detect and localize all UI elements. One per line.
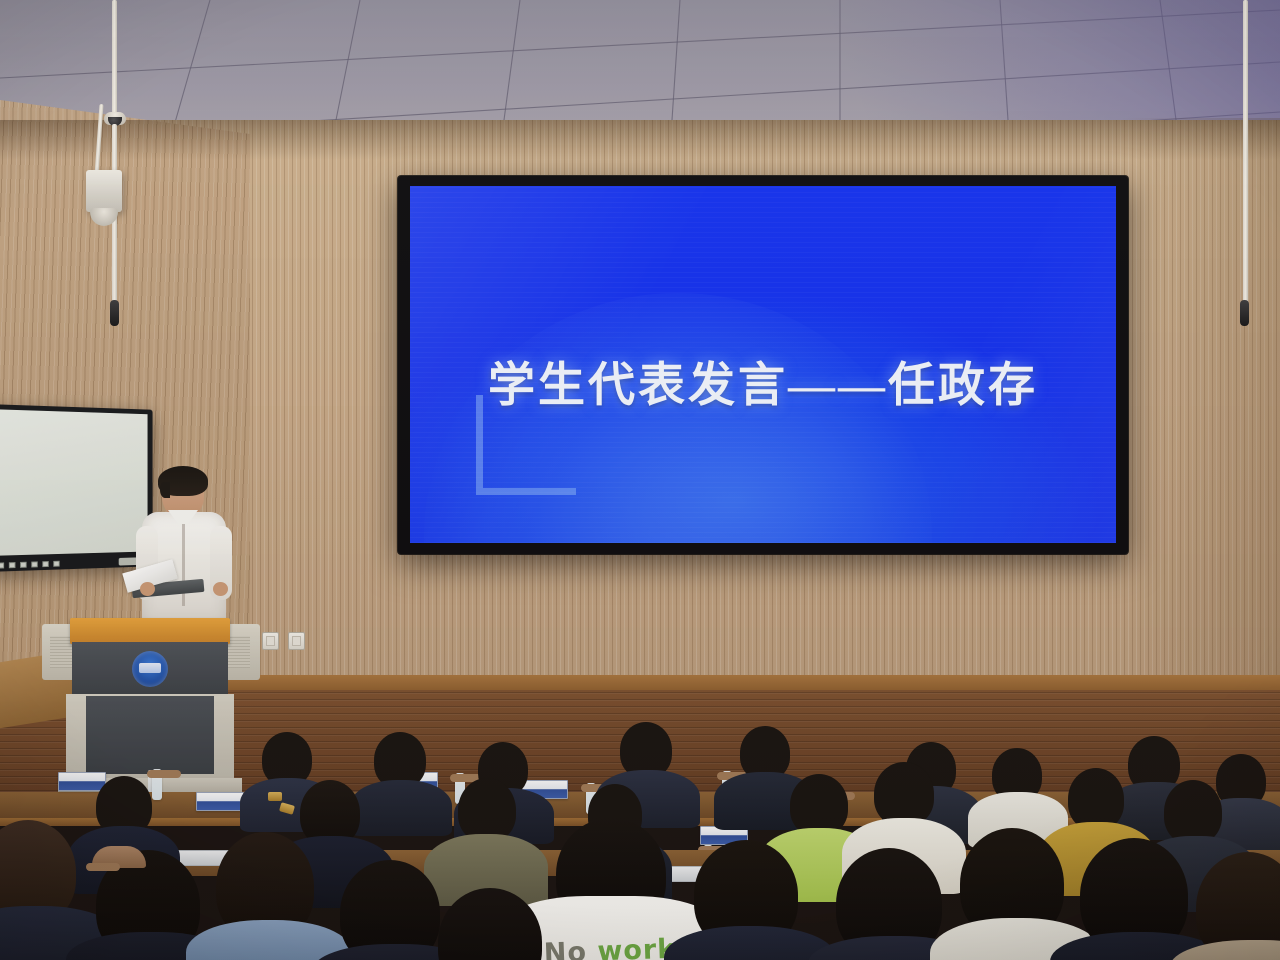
whiteboard-button[interactable] [42,561,48,567]
slide-title: 学生代表发言——任政存 [410,346,1116,415]
projector-icon [86,170,122,212]
audience-head [1068,768,1124,830]
speaker-hand-right [213,582,228,596]
name-placard [58,772,106,791]
whiteboard-button[interactable] [20,562,27,568]
school-crest-icon [132,651,168,687]
bottle-cap [723,771,731,777]
whiteboard-button[interactable] [53,561,59,567]
whiteboard-surface [0,409,148,556]
speaker-hand-left [140,582,155,596]
ceiling-pole-left [112,0,117,118]
audience-shoulders [350,780,452,836]
ceiling-pole-right [1243,0,1248,310]
baseball-cap [92,846,146,868]
speaker-hair [158,466,208,496]
water-bottle [152,774,162,800]
bottle-cap [153,769,161,775]
name-placard [196,792,244,811]
microphone-icon [110,300,119,326]
audience-head [790,774,848,836]
whiteboard[interactable] [0,404,153,572]
auditorium-photo: 学生代表发言——任政存 [0,0,1280,960]
bottle-cap [456,773,464,779]
ceiling-pole-left-lower [112,124,117,324]
whiteboard-button[interactable] [0,562,4,568]
hair-clip [268,792,282,801]
whiteboard-button[interactable] [9,562,16,568]
podium-desktop [70,618,230,644]
audience-head [1164,780,1222,844]
whiteboard-buttons[interactable] [0,561,60,569]
audience-head [874,762,934,826]
whiteboard-button[interactable] [31,561,37,567]
slide-screen: 学生代表发言——任政存 [410,186,1116,543]
microphone-icon-right [1240,300,1249,326]
audience: No work [0,700,1280,960]
audience-head [458,778,516,842]
wall-right-shadow [1120,118,1280,718]
light-switch-right[interactable] [288,632,305,650]
bottle-cap [587,783,595,789]
light-switch-left[interactable] [262,632,279,650]
podium-front-panel [72,642,228,696]
presentation-display[interactable]: 学生代表发言——任政存 [398,176,1128,554]
jacket-word-1: No [543,937,587,960]
wall-top-shadow [0,120,1280,160]
speaker-person [138,470,230,630]
